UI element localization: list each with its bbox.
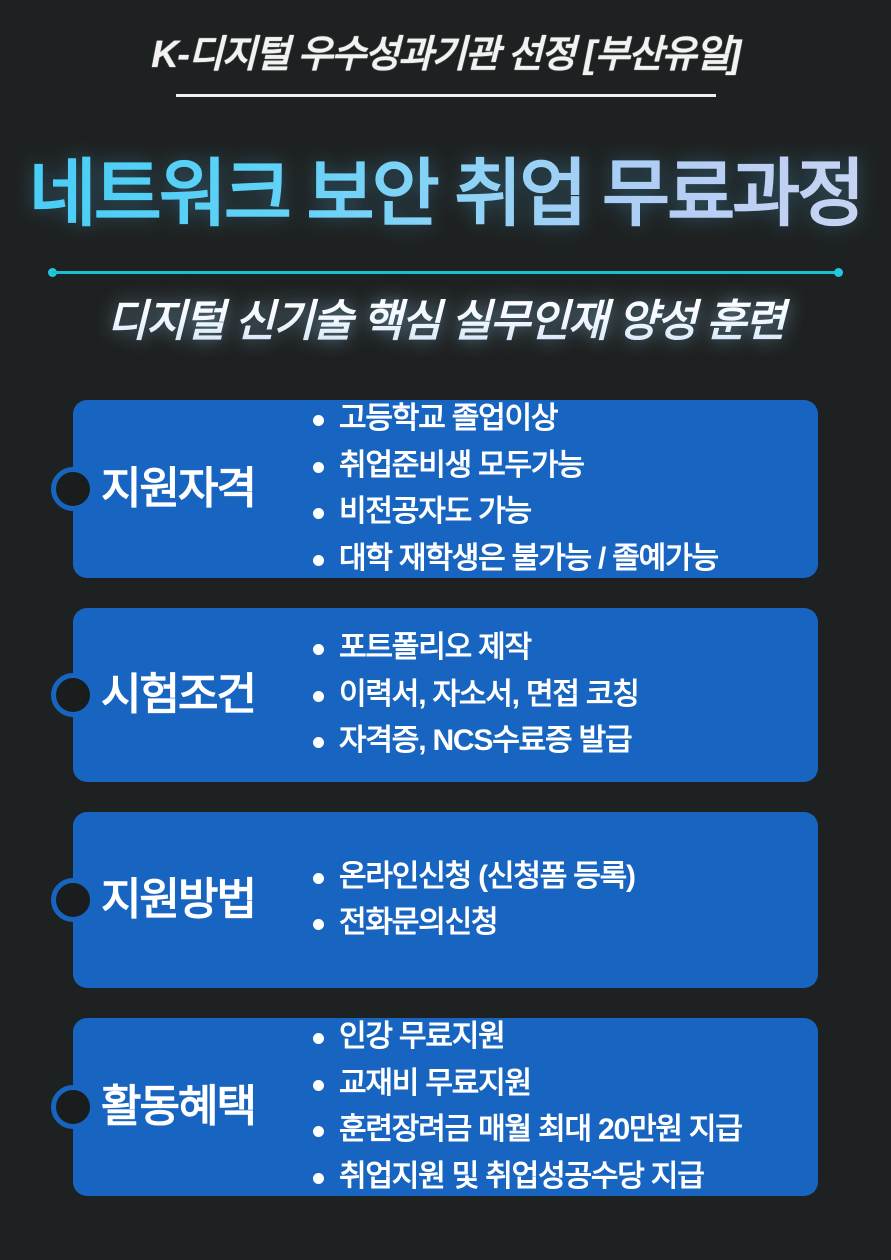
list-item: 대학 재학생은 불가능 / 졸예가능: [309, 536, 798, 583]
card-hole-icon: [51, 467, 95, 511]
divider-dot-right-icon: [834, 268, 843, 277]
list-item: 온라인신청 (신청폼 등록): [309, 854, 798, 901]
list-item: 포트폴리오 제작: [309, 625, 798, 672]
header-divider-line: [176, 94, 716, 97]
list-item: 고등학교 졸업이상: [309, 396, 798, 443]
list-item: 비전공자도 가능: [309, 489, 798, 536]
card-label: 시험조건: [73, 673, 309, 717]
card-hole-icon: [51, 673, 95, 717]
list-item: 교재비 무료지원: [309, 1061, 798, 1108]
page-subtitle: 디지털 신기술 핵심 실무인재 양성 훈련: [0, 294, 891, 349]
card-label: 지원방법: [73, 878, 309, 922]
poster-root: K-디지털 우수성과기관 선정 [부산유일] 네트워크 보안 취업 무료과정 디…: [0, 0, 891, 1260]
cyan-divider: [48, 268, 843, 277]
card-bullet-list: 온라인신청 (신청폼 등록) 전화문의신청: [309, 854, 818, 947]
card-bullet-list: 포트폴리오 제작 이력서, 자소서, 면접 코칭 자격증, NCS수료증 발급: [309, 625, 818, 765]
list-item: 자격증, NCS수료증 발급: [309, 718, 798, 765]
list-item: 이력서, 자소서, 면접 코칭: [309, 672, 798, 719]
list-item: 취업지원 및 취업성공수당 지급: [309, 1154, 798, 1201]
card-hole-icon: [51, 1085, 95, 1129]
card-label: 지원자격: [73, 467, 309, 511]
list-item: 인강 무료지원: [309, 1014, 798, 1061]
info-card-application-method: 지원방법 온라인신청 (신청폼 등록) 전화문의신청: [73, 812, 818, 988]
list-item: 취업준비생 모두가능: [309, 443, 798, 490]
card-label: 활동혜택: [73, 1085, 309, 1129]
card-bullet-list: 인강 무료지원 교재비 무료지원 훈련장려금 매월 최대 20만원 지급 취업지…: [309, 1014, 818, 1200]
header-title: K-디지털 우수성과기관 선정 [부산유일]: [0, 34, 891, 78]
divider-bar: [52, 271, 839, 274]
info-card-benefits: 활동혜택 인강 무료지원 교재비 무료지원 훈련장려금 매월 최대 20만원 지…: [73, 1018, 818, 1196]
info-card-exam-conditions: 시험조건 포트폴리오 제작 이력서, 자소서, 면접 코칭 자격증, NCS수료…: [73, 608, 818, 782]
list-item: 훈련장려금 매월 최대 20만원 지급: [309, 1107, 798, 1154]
card-hole-icon: [51, 878, 95, 922]
list-item: 전화문의신청: [309, 900, 798, 947]
info-card-list: 지원자격 고등학교 졸업이상 취업준비생 모두가능 비전공자도 가능 대학 재학…: [0, 400, 891, 1196]
page-title: 네트워크 보안 취업 무료과정: [0, 150, 891, 239]
info-card-qualification: 지원자격 고등학교 졸업이상 취업준비생 모두가능 비전공자도 가능 대학 재학…: [73, 400, 818, 578]
card-bullet-list: 고등학교 졸업이상 취업준비생 모두가능 비전공자도 가능 대학 재학생은 불가…: [309, 396, 818, 582]
header-block: K-디지털 우수성과기관 선정 [부산유일]: [0, 34, 891, 97]
